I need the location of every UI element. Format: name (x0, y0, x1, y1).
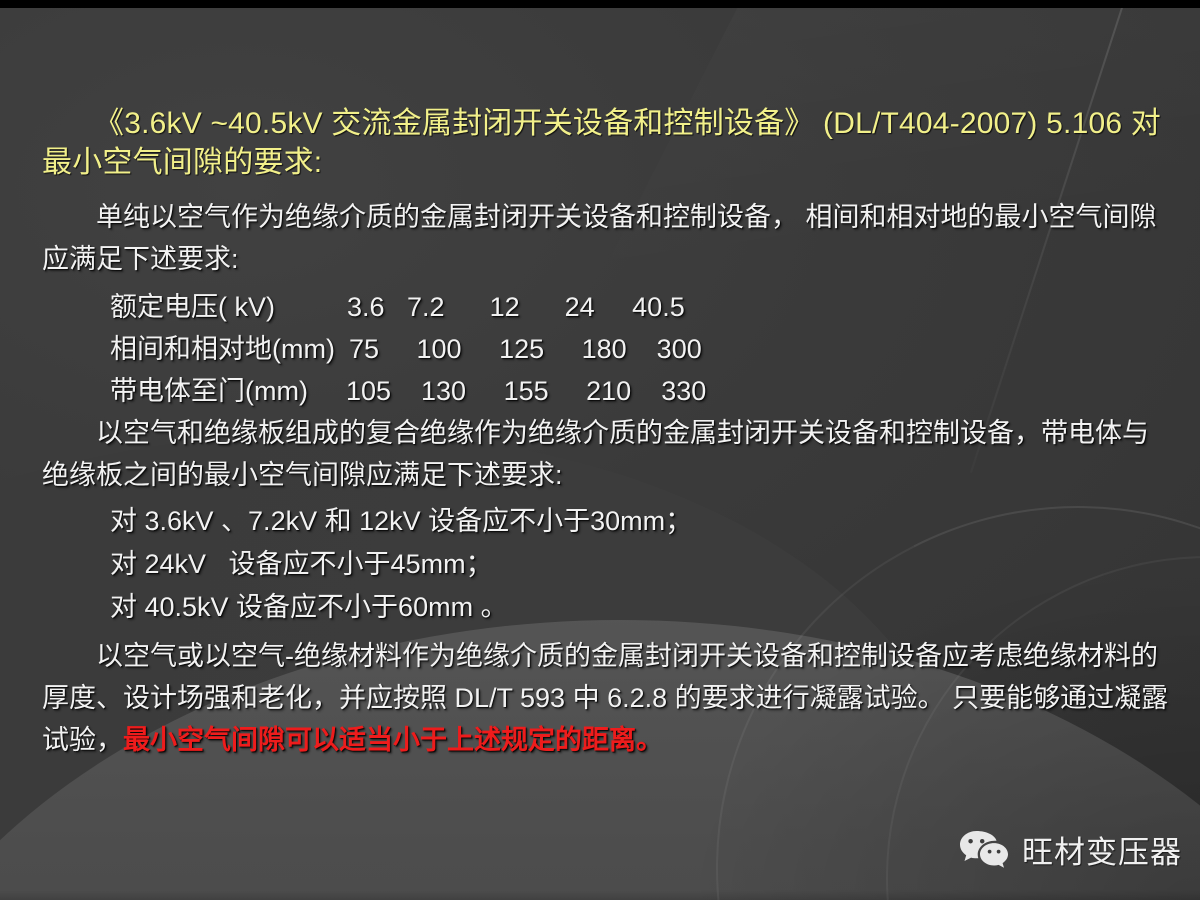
closing-block: 以空气或以空气-绝缘材料作为绝缘介质的金属封闭开关设备和控制设备应考虑绝缘材料的… (42, 635, 1172, 761)
table-row-values: 75 100 125 180 300 (349, 328, 702, 370)
watermark: 旺材变压器 (958, 827, 1182, 872)
highlight-text: 最小空气间隙可以适当小于上述规定的距离。 (123, 725, 663, 755)
slide-title: 《3.6kV ~40.5kV 交流金属封闭开关设备和控制设备》 (DL/T404… (42, 104, 1167, 182)
watermark-label: 旺材变压器 (1022, 827, 1182, 872)
table-row: 带电体至门(mm) 105 130 155 210 330 (110, 370, 1172, 412)
closing-paragraph: 以空气或以空气-绝缘材料作为绝缘介质的金属封闭开关设备和控制设备应考虑绝缘材料的… (42, 635, 1172, 761)
second-paragraph: 以空气和绝缘板组成的复合绝缘作为绝缘介质的金属封闭开关设备和控制设备，带电体与绝… (42, 412, 1172, 496)
wechat-icon (958, 829, 1010, 871)
table-row-label: 额定电压( kV) (110, 286, 275, 328)
table-row: 额定电压( kV) 3.6 7.2 12 24 40.5 (110, 286, 1172, 328)
requirement-list: 对 3.6kV 、7.2kV 和 12kV 设备应不小于30mm； 对 24kV… (42, 500, 1172, 629)
table-row-values: 3.6 7.2 12 24 40.5 (347, 286, 685, 328)
table-row-values: 105 130 155 210 330 (346, 370, 706, 412)
slide-content: 《3.6kV ~40.5kV 交流金属封闭开关设备和控制设备》 (DL/T404… (0, 0, 1200, 900)
requirement-line: 对 3.6kV 、7.2kV 和 12kV 设备应不小于30mm； (110, 500, 1172, 543)
table-row: 相间和相对地(mm) 75 100 125 180 300 (110, 328, 1172, 370)
table-row-label: 相间和相对地(mm) (110, 328, 335, 370)
table-row-label: 带电体至门(mm) (110, 370, 308, 412)
slide-canvas: 《3.6kV ~40.5kV 交流金属封闭开关设备和控制设备》 (DL/T404… (0, 0, 1200, 900)
slide-body: 单纯以空气作为绝缘介质的金属封闭开关设备和控制设备， 相间和相对地的最小空气间隙… (42, 196, 1172, 761)
requirement-line: 对 24kV 设备应不小于45mm； (110, 543, 1172, 586)
requirement-line: 对 40.5kV 设备应不小于60mm 。 (110, 586, 1172, 629)
intro-paragraph: 单纯以空气作为绝缘介质的金属封闭开关设备和控制设备， 相间和相对地的最小空气间隙… (42, 196, 1172, 280)
clearance-table: 额定电压( kV) 3.6 7.2 12 24 40.5 相间和相对地(mm) … (42, 286, 1172, 412)
